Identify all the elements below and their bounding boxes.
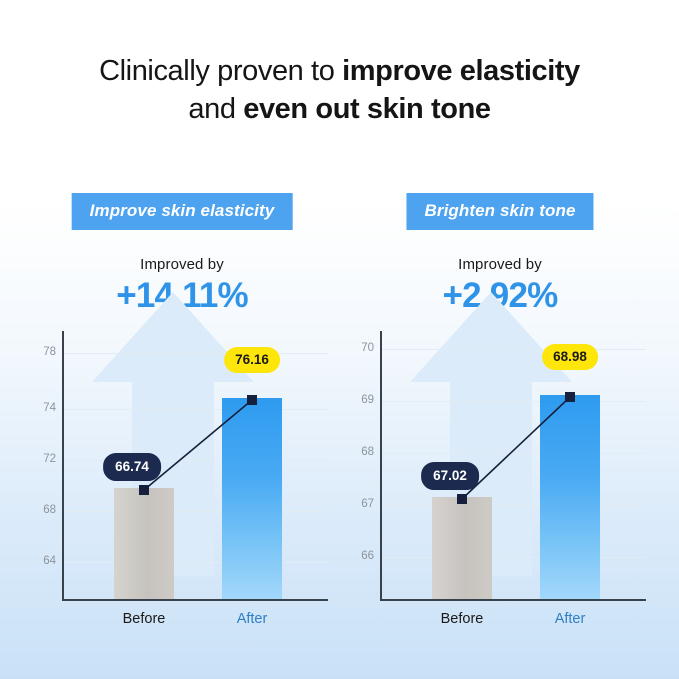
gridline — [380, 453, 646, 454]
headline-line-2: and even out skin tone — [0, 90, 679, 128]
chart-panel-skintone: Brighten skin tone Improved by +2.92% 70… — [340, 186, 660, 656]
x-label-after-skintone: After — [555, 611, 586, 627]
headline-line-1-bold: improve elasticity — [342, 55, 580, 87]
bar-before-skintone — [432, 497, 492, 599]
x-axis-elasticity — [62, 599, 328, 601]
bar-before-elasticity — [114, 488, 174, 599]
improved-by-label-elasticity: Improved by — [22, 256, 342, 273]
gridline — [380, 557, 646, 558]
headline-line-1: Clinically proven to improve elasticity — [0, 52, 679, 90]
y-axis-elasticity — [62, 331, 64, 601]
panel-badge-elasticity: Improve skin elasticity — [72, 193, 293, 230]
x-label-before-elasticity: Before — [123, 611, 166, 627]
headline-line-2-bold: even out skin tone — [243, 93, 490, 125]
plot-area-elasticity: 78 74 72 68 64 66.74 76.16 — [62, 331, 328, 601]
x-axis-skintone — [380, 599, 646, 601]
gridline — [62, 511, 328, 512]
gridline — [62, 353, 328, 354]
y-tick-label: 68 — [16, 504, 56, 516]
trend-connector-elasticity — [62, 331, 328, 601]
y-tick-label: 67 — [334, 498, 374, 510]
x-axis-labels-skintone: Before After — [380, 611, 646, 641]
y-tick-label: 72 — [16, 453, 56, 465]
x-label-before-skintone: Before — [441, 611, 484, 627]
chart-panel-elasticity: Improve skin elasticity Improved by +14.… — [22, 186, 342, 656]
y-tick-label: 70 — [334, 342, 374, 354]
x-label-after-elasticity: After — [237, 611, 268, 627]
bar-after-elasticity — [222, 398, 282, 599]
bar-after-skintone — [540, 395, 600, 599]
panel-badge-skintone: Brighten skin tone — [406, 193, 593, 230]
gridline — [380, 505, 646, 506]
value-label-after-skintone: 68.98 — [542, 344, 598, 370]
y-tick-label: 68 — [334, 446, 374, 458]
gridline — [380, 349, 646, 350]
plot-area-skintone: 70 69 68 67 66 67.02 68.98 — [380, 331, 646, 601]
improved-by-label-skintone: Improved by — [340, 256, 660, 273]
headline-line-1-plain: Clinically proven to — [99, 55, 342, 87]
gridline — [380, 401, 646, 402]
gridline — [62, 460, 328, 461]
y-tick-label: 64 — [16, 555, 56, 567]
charts-container: Improve skin elasticity Improved by +14.… — [0, 186, 679, 656]
value-label-before-skintone: 67.02 — [421, 462, 479, 490]
gridline — [62, 409, 328, 410]
y-tick-label: 78 — [16, 346, 56, 358]
x-axis-labels-elasticity: Before After — [62, 611, 328, 641]
page-headline: Clinically proven to improve elasticity … — [0, 52, 679, 128]
headline-line-2-plain: and — [188, 93, 243, 125]
gridline — [62, 562, 328, 563]
y-axis-skintone — [380, 331, 382, 601]
trend-connector-skintone — [380, 331, 646, 601]
y-tick-label: 69 — [334, 394, 374, 406]
value-label-after-elasticity: 76.16 — [224, 347, 280, 373]
y-tick-label: 74 — [16, 402, 56, 414]
value-label-before-elasticity: 66.74 — [103, 453, 161, 481]
y-tick-label: 66 — [334, 550, 374, 562]
